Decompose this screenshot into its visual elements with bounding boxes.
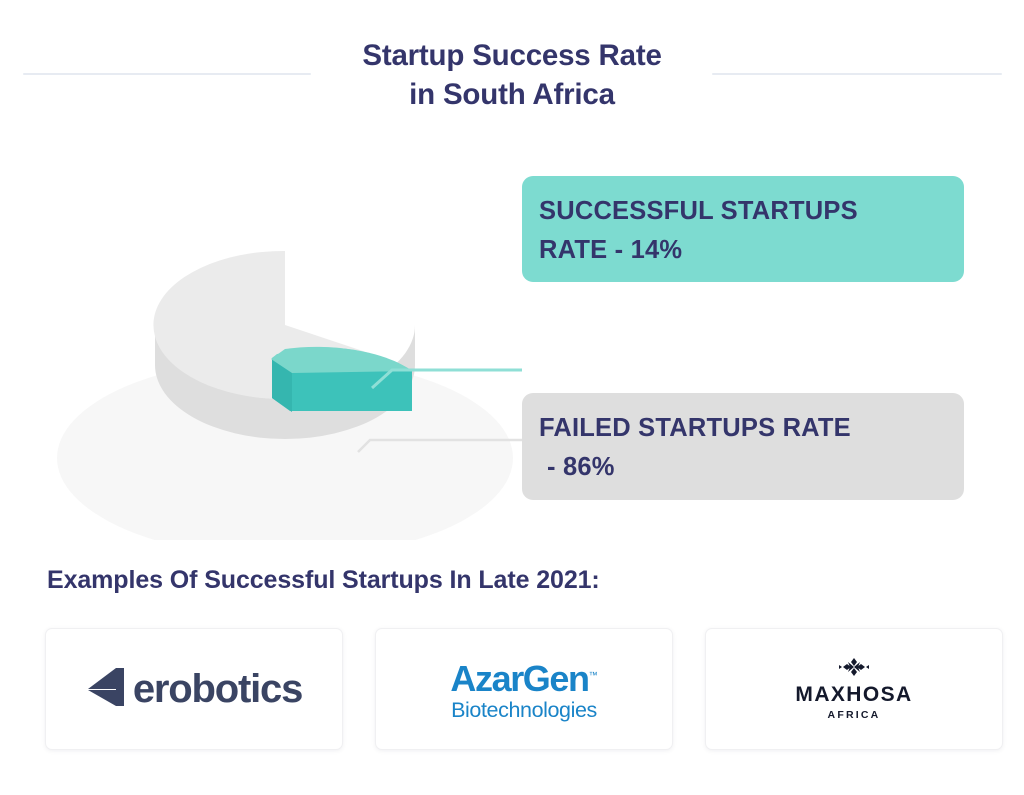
logo-card-list: erobotics AzarGen™ Biotechnologies <box>45 628 1005 750</box>
maxhosa-wordmark: MAXHOSA <box>795 684 912 706</box>
aerobotics-wordmark: erobotics <box>133 669 302 709</box>
examples-heading: Examples Of Successful Startups In Late … <box>47 566 600 595</box>
header: Startup Success Rate in South Africa <box>0 0 1024 135</box>
callout-failed-line1: FAILED STARTUPS RATE <box>539 409 942 448</box>
callout-failed-line2: - 86% <box>539 448 942 487</box>
callout-failed-startups: FAILED STARTUPS RATE - 86% <box>522 393 964 500</box>
aerobotics-a-mark-svg <box>86 666 132 708</box>
callout-successful-line1: SUCCESSFUL STARTUPS <box>539 192 942 231</box>
aerobotics-logo: erobotics <box>86 666 302 713</box>
callout-successful-startups: SUCCESSFUL STARTUPS RATE - 14% <box>522 176 964 282</box>
logo-card-aerobotics[interactable]: erobotics <box>45 628 343 750</box>
azargen-wordmark: AzarGen <box>450 658 588 699</box>
azargen-wordmark-row: AzarGen™ <box>450 657 597 697</box>
page-title-line1: Startup Success Rate <box>362 39 661 72</box>
azargen-tagline: Biotechnologies <box>450 698 597 722</box>
page-title-line2: in South Africa <box>0 75 1024 114</box>
page-title: Startup Success Rate in South Africa <box>0 36 1024 114</box>
logo-card-azargen[interactable]: AzarGen™ Biotechnologies <box>375 628 673 750</box>
maxhosa-ornament-svg <box>837 657 871 677</box>
aerobotics-a-mark <box>86 666 132 713</box>
callout-successful-line2: RATE - 14% <box>539 231 942 270</box>
azargen-logo: AzarGen™ Biotechnologies <box>450 657 597 722</box>
azargen-trademark-icon: ™ <box>589 670 598 680</box>
maxhosa-cross-ornament-icon <box>795 657 912 682</box>
maxhosa-tagline: AFRICA <box>795 708 912 722</box>
maxhosa-logo: MAXHOSA AFRICA <box>795 657 912 722</box>
logo-card-maxhosa[interactable]: MAXHOSA AFRICA <box>705 628 1003 750</box>
